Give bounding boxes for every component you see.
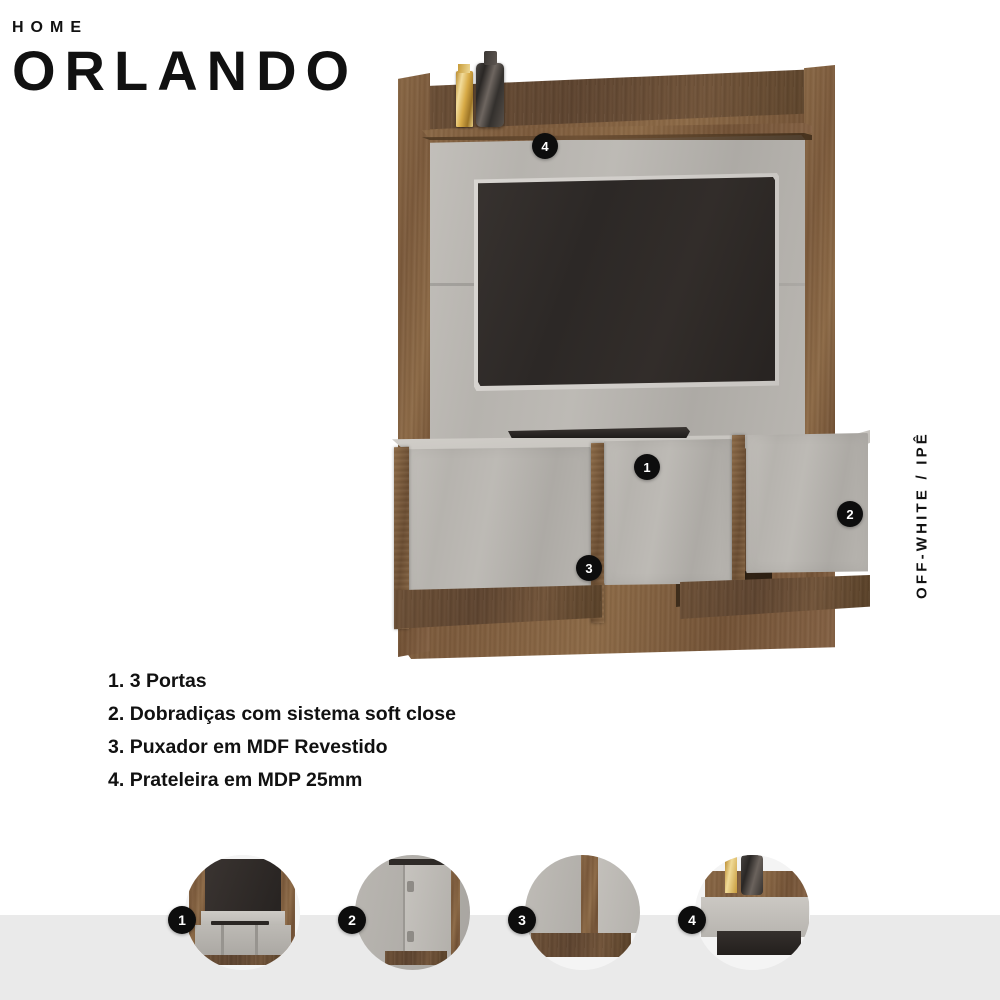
thumbnail-badge-4[interactable]: 4 xyxy=(678,906,706,934)
cabinet-door-left xyxy=(406,447,591,599)
feature-item-3: 3. Puxador em MDF Revestido xyxy=(108,738,456,758)
feature-number-3: 3 xyxy=(108,736,119,758)
callout-badge-4[interactable]: 4 xyxy=(532,133,558,159)
thumb4-gold-bottle xyxy=(725,857,737,893)
feature-number-2: 2 xyxy=(108,703,119,725)
cabinet-plinth-right xyxy=(680,575,870,619)
page-title: ORLANDO xyxy=(12,42,358,101)
bottom-gray-band xyxy=(0,915,1000,1000)
feature-sep-1: . xyxy=(119,670,124,692)
thumb2-wood-edge xyxy=(451,861,460,959)
thumb2-hinge-lower xyxy=(407,931,414,942)
tv-screen xyxy=(478,177,775,386)
thumb1-divider-1 xyxy=(221,925,224,959)
feature-list: 1. 3 Portas 2. Dobradiças com sistema so… xyxy=(108,672,456,804)
product-image: 1 2 3 4 xyxy=(380,55,880,655)
feature-number-4: 4 xyxy=(108,769,119,791)
thumbnail-2[interactable] xyxy=(355,855,470,970)
feature-text-1: 3 Portas xyxy=(130,670,207,692)
thumb3-door-right xyxy=(597,855,640,933)
thumbnail-3[interactable] xyxy=(525,855,640,970)
cabinet-door-center xyxy=(604,439,732,585)
material-label-text: OFF-WHITE / IPÊ xyxy=(914,431,931,599)
feature-item-4: 4. Prateleira em MDP 25mm xyxy=(108,771,456,791)
brand-block: HOME ORLANDO xyxy=(12,20,358,101)
thumb2-open-door xyxy=(403,865,453,959)
feature-item-2: 2. Dobradiças com sistema soft close xyxy=(108,705,456,725)
thumb1-divider-2 xyxy=(255,925,258,959)
thumbnail-badge-1[interactable]: 1 xyxy=(168,906,196,934)
feature-number-1: 1 xyxy=(108,670,119,692)
gold-bottle-decor xyxy=(456,71,473,127)
thumbnail-4[interactable] xyxy=(695,855,810,970)
thumbnail-1[interactable] xyxy=(185,855,300,970)
callout-badge-2[interactable]: 2 xyxy=(837,501,863,527)
callout-badge-1[interactable]: 1 xyxy=(634,454,660,480)
thumb3-plinth xyxy=(531,933,631,957)
thumb1-open-cabinet xyxy=(195,925,291,959)
feature-text-4: Prateleira em MDP 25mm xyxy=(130,769,363,791)
thumb2-plinth xyxy=(385,951,447,965)
material-label: OFF-WHITE / IPÊ xyxy=(902,400,942,630)
thumbnail-badge-2[interactable]: 2 xyxy=(338,906,366,934)
thumbnail-badge-3[interactable]: 3 xyxy=(508,906,536,934)
brand-eyebrow: HOME xyxy=(12,20,358,36)
thumb4-tv-edge xyxy=(717,931,801,955)
thumb1-plinth xyxy=(201,955,285,965)
feature-sep-3: . xyxy=(119,736,124,758)
dark-bottle-decor xyxy=(476,63,504,127)
feature-text-2: Dobradiças com sistema soft close xyxy=(130,703,456,725)
thumb1-tv xyxy=(205,859,281,913)
feature-item-1: 1. 3 Portas xyxy=(108,672,456,692)
thumb2-hinge-upper xyxy=(407,881,414,892)
feature-sep-4: . xyxy=(119,769,124,791)
callout-badge-3[interactable]: 3 xyxy=(576,555,602,581)
thumb4-dark-bottle xyxy=(741,855,763,895)
feature-sep-2: . xyxy=(119,703,124,725)
feature-text-3: Puxador em MDF Revestido xyxy=(130,736,388,758)
